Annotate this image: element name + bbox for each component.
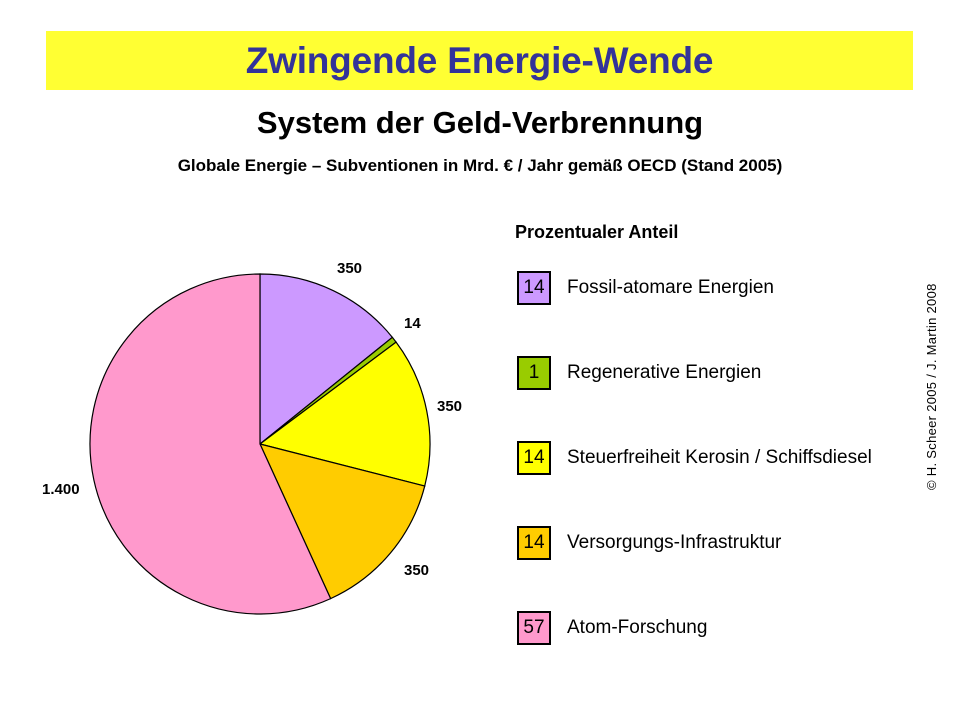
legend-item-label: Versorgungs-Infrastruktur [567,532,781,554]
legend-item: 14Steuerfreiheit Kerosin / Schiffsdiesel [517,440,872,476]
page-title: Zwingende Energie-Wende [46,31,913,90]
legend-item-label: Regenerative Energien [567,362,761,384]
subtitle-heading: System der Geld-Verbrennung [0,105,960,141]
legend-item: 14Versorgungs-Infrastruktur [517,525,781,561]
legend-item-label: Atom-Forschung [567,617,707,639]
legend-item-label: Fossil-atomare Energien [567,277,774,299]
pie-value-label: 14 [404,315,421,332]
subtitle-source-line: Globale Energie – Subventionen in Mrd. €… [0,156,960,176]
pie-slice-group [90,274,430,614]
legend-swatch: 14 [517,441,551,475]
pie-value-label: 350 [404,562,429,579]
pie-value-label: 350 [337,260,362,277]
legend-swatch: 14 [517,526,551,560]
pie-chart [40,250,500,650]
pie-chart-svg [40,250,500,650]
legend-item: 1Regenerative Energien [517,355,761,391]
title-banner: Zwingende Energie-Wende [46,31,913,90]
copyright-notice: © H. Scheer 2005 / J. Martin 2008 [921,270,939,490]
legend-item: 57Atom-Forschung [517,610,707,646]
legend-item: 14Fossil-atomare Energien [517,270,774,306]
legend-item-label: Steuerfreiheit Kerosin / Schiffsdiesel [567,447,872,469]
legend-title: Prozentualer Anteil [515,222,678,243]
pie-value-label: 350 [437,398,462,415]
legend-swatch: 57 [517,611,551,645]
legend-swatch: 1 [517,356,551,390]
legend-swatch: 14 [517,271,551,305]
pie-value-label: 1.400 [42,481,80,498]
copyright-text: © H. Scheer 2005 / J. Martin 2008 [924,283,939,490]
